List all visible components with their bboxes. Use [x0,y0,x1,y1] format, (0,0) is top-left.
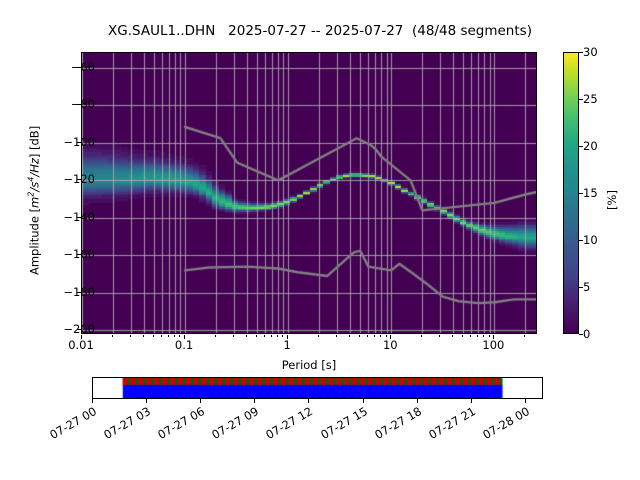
x-tick-minor [386,335,387,337]
ppsd-histogram-canvas [82,53,537,334]
x-tick-minor [452,335,453,337]
y-tick-label-1: −80 [35,97,95,111]
ppsd-figure: XG.SAUL1..DHN 2025-07-27 -- 2025-07-27 (… [0,0,640,480]
colorbar-tick-label-2: 10 [583,233,598,247]
x-tick-minor [264,335,265,337]
timeline-tick-label-6: 07-27 18 [365,404,424,446]
x-tick-minor [483,335,484,337]
x-tick-minor [421,335,422,337]
y-tick-label-7: −200 [35,322,95,336]
x-tick-minor [380,335,381,337]
x-tick-minor [271,335,272,337]
x-tick-minor [233,335,234,337]
timeline-tick-label-7: 07-27 21 [419,404,478,446]
colorbar-label: [%] [605,150,619,250]
timeline-tick-mark [92,399,93,403]
x-tick-minor [161,335,162,337]
x-tick-label-3: 10 [383,338,398,352]
timeline-tick-mark [471,399,472,403]
y-tick-label-5: −160 [35,247,95,261]
colorbar-tick-label-5: 25 [583,92,598,106]
timeline-tick-label-5: 07-27 15 [311,404,370,446]
timeline-tick-label-1: 07-27 03 [94,404,153,446]
y-tick-label-6: −180 [35,285,95,299]
y-tick-label-4: −140 [35,210,95,224]
x-tick-minor [179,335,180,337]
x-tick-minor [130,335,131,337]
colorbar-tick-label-0: 0 [583,327,590,341]
y-axis-label-exp2: 2 [27,192,36,197]
x-tick-minor [462,335,463,337]
y-tick-label-2: −100 [35,135,95,149]
x-tick-minor [336,335,337,337]
y-axis-label-unit-m: m [27,197,41,208]
coverage-timeline[interactable] [92,377,543,399]
timeline-tick-mark [200,399,201,403]
colorbar-tick-label-4: 20 [583,139,598,153]
x-axis-label: Period [s] [81,358,537,372]
timeline-tick-mark [254,399,255,403]
colorbar-tick-label-1: 5 [583,280,590,294]
x-tick-minor [524,335,525,337]
timeline-tick-label-2: 07-27 06 [148,404,207,446]
x-tick-minor [174,335,175,337]
x-tick-label-1: 0.1 [175,338,193,352]
figure-title: XG.SAUL1..DHN 2025-07-27 -- 2025-07-27 (… [0,23,640,39]
x-tick-label-2: 1 [284,338,291,352]
timeline-tick-label-3: 07-27 09 [202,404,261,446]
colorbar-tick-label-3: 15 [583,186,598,200]
x-tick-minor [359,335,360,337]
x-tick-minor [318,335,319,337]
ppsd-plot-area[interactable] [81,52,537,334]
x-tick-minor [112,335,113,337]
timeline-tick-mark [417,399,418,403]
x-tick-minor [439,335,440,337]
x-tick-minor [282,335,283,337]
x-tick-minor [215,335,216,337]
x-tick-minor [277,335,278,337]
x-tick-minor [143,335,144,337]
colorbar[interactable] [563,52,579,334]
timeline-tick-label-0: 07-27 00 [40,404,99,446]
x-tick-label-4: 100 [482,338,504,352]
timeline-tick-mark [146,399,147,403]
coverage-timeline-canvas [93,378,543,399]
x-tick-minor [349,335,350,337]
timeline-tick-label-8: 07-28 00 [473,404,532,446]
x-tick-label-0: 0.01 [68,338,94,352]
y-tick-label-0: −60 [35,60,95,74]
x-tick-minor [367,335,368,337]
y-tick-label-3: −120 [35,172,95,186]
timeline-tick-mark [363,399,364,403]
timeline-tick-label-4: 07-27 12 [257,404,316,446]
x-tick-minor [153,335,154,337]
x-tick-minor [256,335,257,337]
x-tick-minor [168,335,169,337]
timeline-tick-mark [525,399,526,403]
x-tick-minor [246,335,247,337]
x-tick-minor [477,335,478,337]
x-tick-minor [489,335,490,337]
timeline-tick-mark [308,399,309,403]
x-tick-minor [374,335,375,337]
colorbar-tick-label-6: 30 [583,45,598,59]
x-tick-minor [470,335,471,337]
